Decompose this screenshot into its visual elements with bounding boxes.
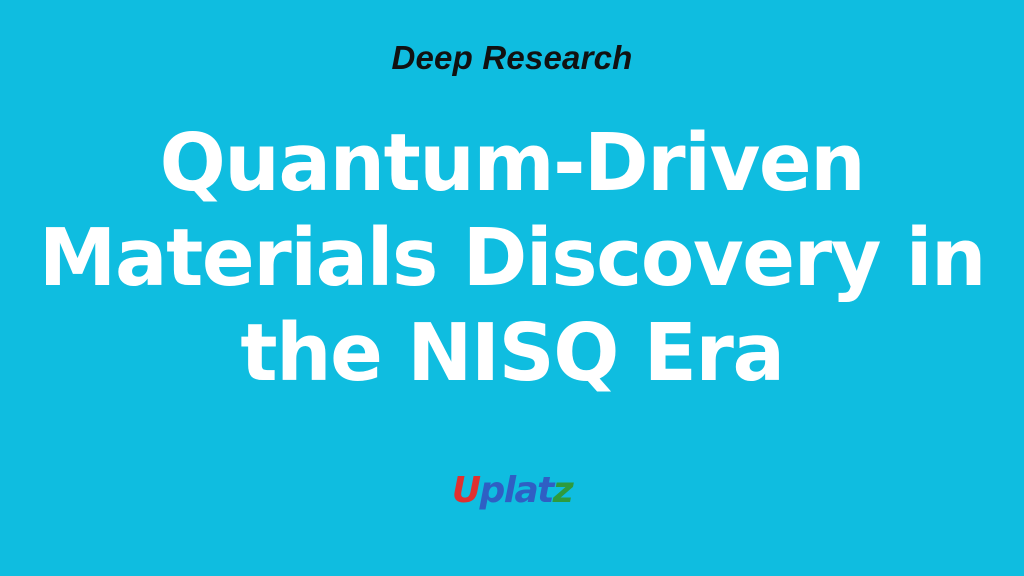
logo-letters-plat: plat	[480, 470, 553, 511]
uplatz-wordmark: Uplatz	[452, 471, 572, 511]
uplatz-logo: Uplatz	[0, 471, 1024, 511]
page-title: Quantum-Driven Materials Discovery in th…	[0, 116, 1024, 401]
title-slide: Deep Research Quantum-Driven Materials D…	[0, 0, 1024, 576]
logo-letter-z: z	[553, 470, 572, 511]
title-line-3: the NISQ Era	[8, 306, 1017, 401]
title-line-1: Quantum-Driven	[8, 116, 1017, 211]
title-line-2: Materials Discovery in	[8, 211, 1017, 306]
eyebrow-label: Deep Research	[0, 36, 1024, 80]
logo-letter-u: U	[452, 470, 480, 511]
